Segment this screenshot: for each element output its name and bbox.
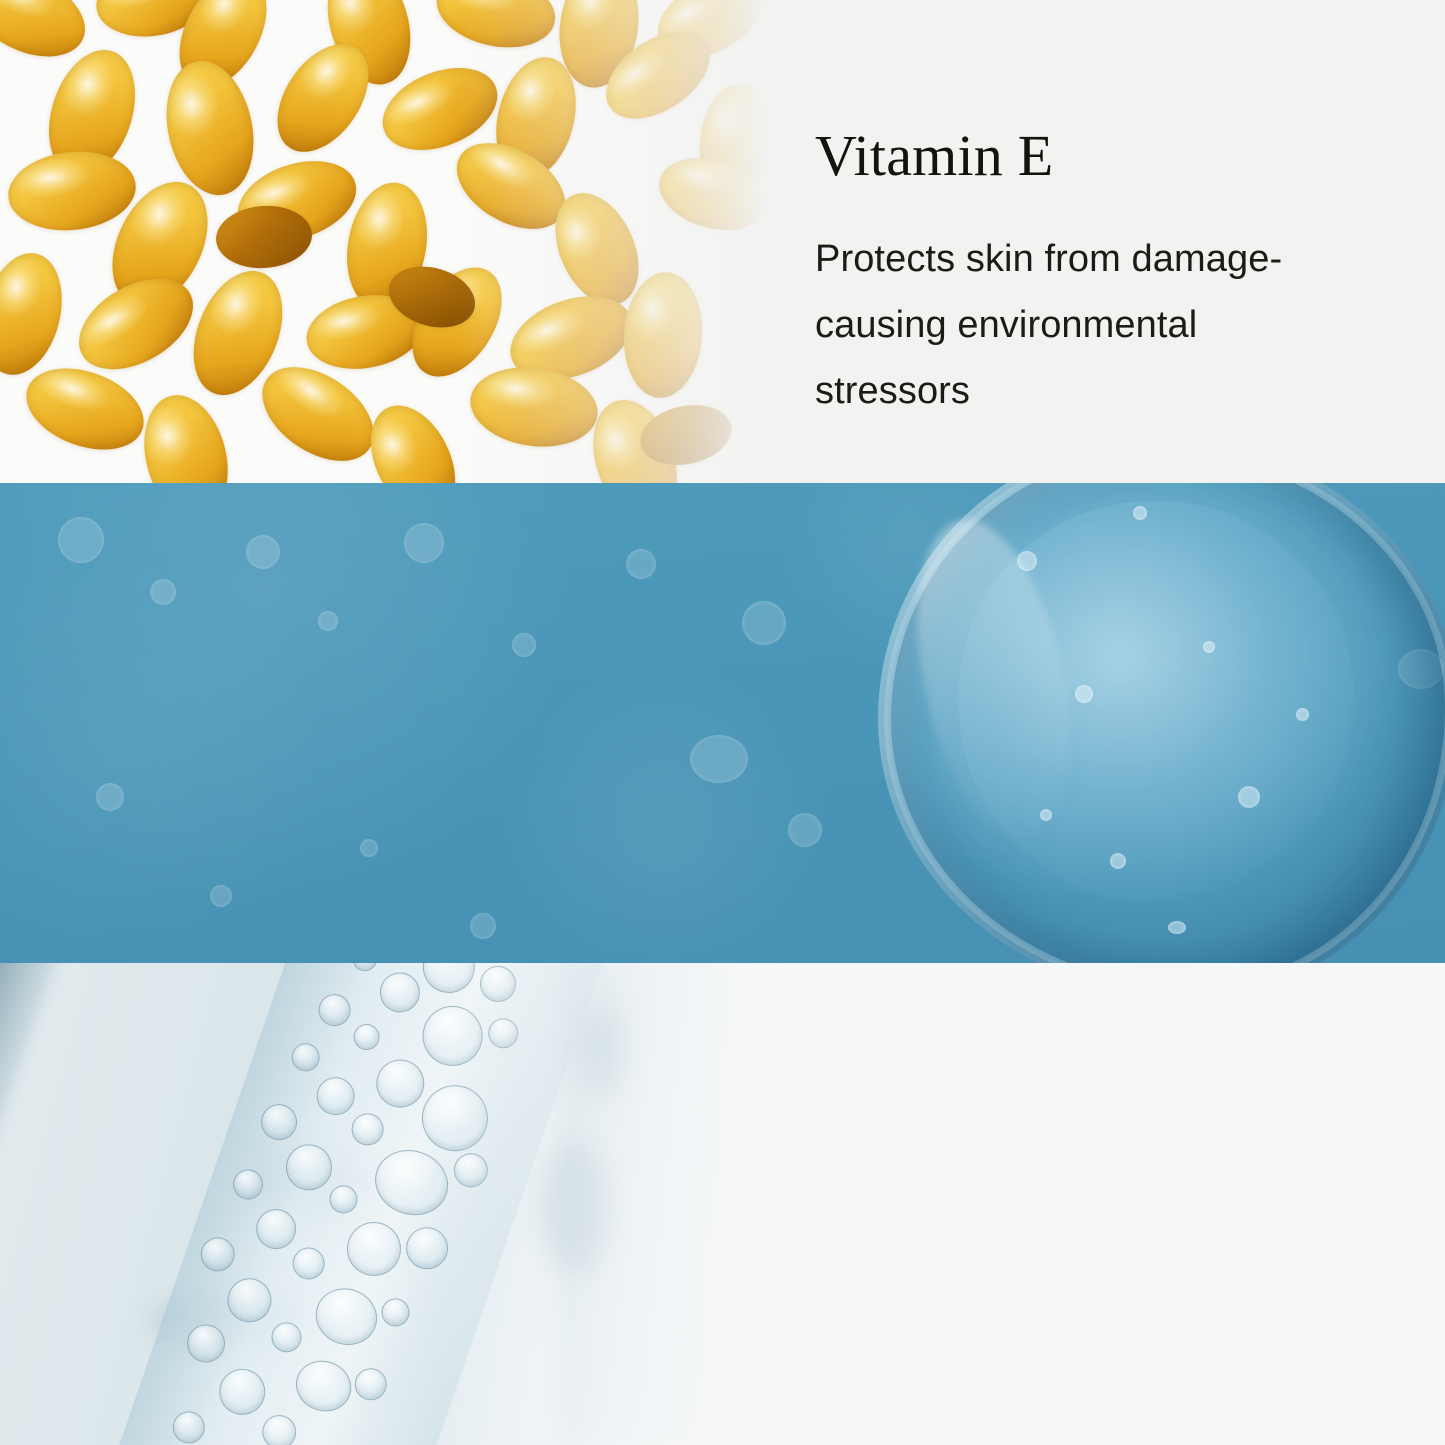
ingredient-infographic: Vitamin E Protects skin from damage- cau… xyxy=(0,0,1445,1445)
panel-hyaluronic-acid: Hyaluronic Acid Promotes glowing skin wi… xyxy=(0,483,1445,963)
water-droplet-icon xyxy=(878,483,1445,963)
niacinamide-bubbles-image xyxy=(0,963,840,1445)
vitamin-e-capsules-image xyxy=(0,0,790,483)
vitamin-e-heading: Vitamin E xyxy=(815,124,1415,188)
vitamin-e-text-block: Vitamin E Protects skin from damage- cau… xyxy=(815,124,1415,424)
bubble-band-shadow xyxy=(0,963,69,1445)
vitamin-e-description: Protects skin from damage- causing envir… xyxy=(815,226,1415,424)
hyaluronic-acid-teal-background xyxy=(0,483,1445,963)
panel-niacinamide: Special-Grade Niacinamide Protects skin … xyxy=(0,963,1445,1445)
bubble-band xyxy=(73,963,614,1445)
panel-vitamin-e: Vitamin E Protects skin from damage- cau… xyxy=(0,0,1445,483)
